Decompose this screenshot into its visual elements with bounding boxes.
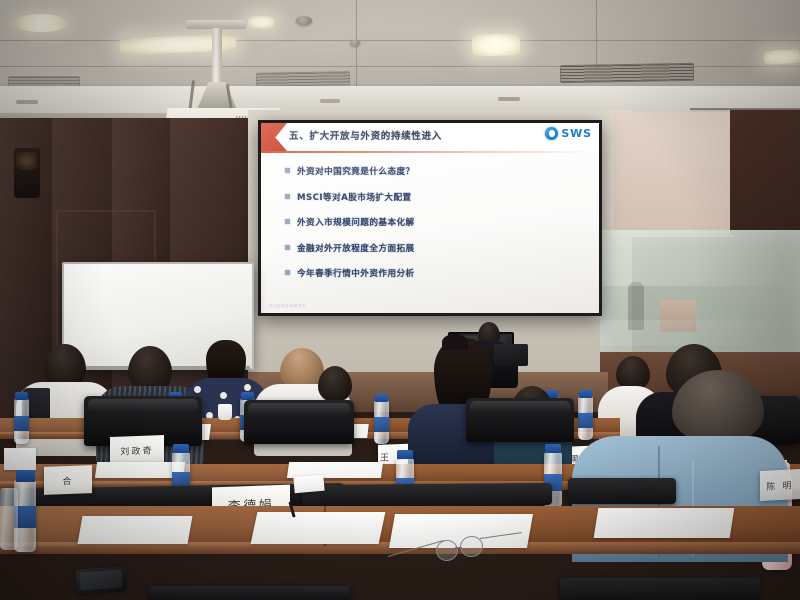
chair: [244, 400, 354, 444]
nameplate: 刘政奇: [110, 435, 164, 465]
attendee-head: [318, 366, 352, 402]
ceiling-light: [248, 16, 274, 28]
chair: [302, 483, 552, 507]
bullet-square-icon: [285, 219, 290, 224]
ceiling-air-vent: [256, 71, 350, 87]
sws-logo-text: SWS: [561, 127, 592, 140]
slide-footer-text: 申万宏源证券研究所: [269, 304, 306, 309]
nameplate-text: 陈 明: [766, 478, 793, 492]
glass-highlight: [600, 320, 800, 346]
sws-circle-mark-icon: [545, 127, 558, 140]
nameplate: 合: [44, 465, 92, 495]
water-bottle: [374, 400, 389, 444]
list-item: 金融对外开放程度全方面拓展: [285, 242, 587, 254]
bullet-text: 今年春季行情中外资作用分析: [297, 267, 415, 279]
bottle-cap: [241, 392, 254, 400]
bottle-cap: [375, 394, 388, 402]
conference-room-photo: 五、扩大开放与外资的持续性进入 SWS 外资对中国究竟是什么态度？ MSCI等对…: [0, 0, 800, 600]
smoke-detector-icon: [296, 16, 312, 25]
bottle-cap: [397, 450, 413, 459]
wall-sconce-glow: [16, 152, 37, 170]
slide-title: 五、扩大开放与外资的持续性进入: [289, 128, 519, 146]
nameplate-text: 合: [62, 473, 73, 486]
right-wall-upper: [614, 112, 734, 237]
bottle-cap: [545, 444, 561, 453]
chair: [466, 398, 574, 442]
attendee-head: [616, 356, 650, 390]
bullet-square-icon: [285, 168, 290, 173]
laptop: [494, 344, 528, 366]
water-bottle: [578, 396, 593, 440]
right-wall-dark-panel: [730, 110, 800, 235]
ceiling-light: [14, 14, 68, 32]
paper-sheet: [78, 516, 193, 544]
water-bottle: [0, 488, 18, 550]
projection-screen: 五、扩大开放与外资的持续性进入 SWS 外资对中国究竟是什么态度？ MSCI等对…: [258, 120, 602, 316]
bullet-text: 外资对中国究竟是什么态度？: [297, 165, 415, 177]
bulkhead-slot: [16, 100, 38, 104]
chair: [150, 586, 350, 600]
attendee-hair: [442, 334, 468, 350]
sws-logo: SWS: [545, 127, 592, 140]
bullet-text: MSCI等对A股市场扩大配置: [297, 191, 412, 203]
list-item: 外资入市规模问题的基本化解: [285, 216, 587, 228]
ceiling-air-vent: [560, 63, 694, 83]
slide-bullet-list: 外资对中国究竟是什么态度？ MSCI等对A股市场扩大配置 外资入市规模问题的基本…: [285, 165, 587, 293]
bottle-cap: [15, 392, 28, 400]
glass-highlight: [600, 230, 800, 286]
paper-sheet: [594, 508, 735, 538]
nameplate: 陈 明: [760, 469, 800, 501]
projector-mount-pole: [212, 28, 222, 90]
list-item: MSCI等对A股市场扩大配置: [285, 191, 587, 203]
bulkhead-slot: [320, 99, 340, 103]
chair: [560, 578, 760, 600]
bullet-square-icon: [285, 270, 290, 275]
bullet-text: 外资入市规模问题的基本化解: [297, 216, 415, 228]
tissue-pack: [4, 448, 36, 470]
paper-sheet: [251, 512, 386, 544]
bottle-cap: [16, 470, 35, 482]
bullet-square-icon: [285, 194, 290, 199]
chair: [568, 478, 676, 504]
eyeglasses: [430, 534, 530, 562]
paper-cup: [218, 404, 232, 420]
water-bottle: [14, 398, 29, 444]
slide-title-underline: [261, 151, 599, 153]
nameplate-text: 刘政奇: [120, 443, 154, 457]
bulkhead-slot: [498, 97, 520, 101]
ceiling-light: [472, 33, 521, 56]
bottle-cap: [579, 390, 592, 398]
tissue-pack: [293, 475, 324, 494]
smoke-detector-icon: [350, 40, 360, 46]
bullet-square-icon: [285, 245, 290, 250]
ceiling-light: [764, 49, 800, 65]
smartphone[interactable]: [75, 566, 127, 593]
list-item: 今年春季行情中外资作用分析: [285, 267, 587, 279]
bullet-text: 金融对外开放程度全方面拓展: [297, 242, 415, 254]
bottle-cap: [173, 444, 189, 453]
list-item: 外资对中国究竟是什么态度？: [285, 165, 587, 177]
ceiling-seam: [596, 0, 597, 72]
presentation-slide: 五、扩大开放与外资的持续性进入 SWS 外资对中国究竟是什么态度？ MSCI等对…: [261, 123, 599, 313]
